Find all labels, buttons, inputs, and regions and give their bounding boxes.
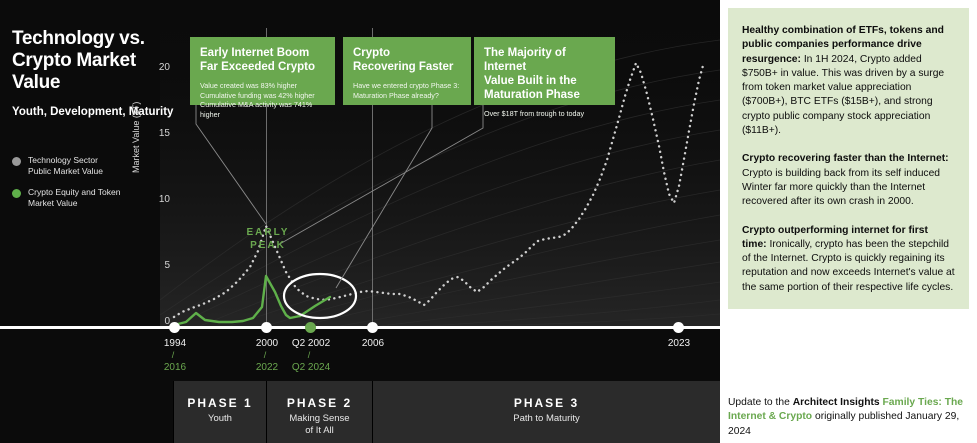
annotation-early-peak: EARLYPEAK (236, 226, 300, 252)
callout-leader-lines (196, 105, 483, 288)
phase-number-1: PHASE 1 (174, 396, 266, 410)
x-tick-2000: 2000 (256, 338, 278, 349)
x-axis-line (0, 326, 720, 329)
phase-number-2: PHASE 2 (267, 396, 372, 410)
chart-panel: Technology vs. Crypto Market Value Youth… (0, 0, 720, 443)
x-axis-dot-2023 (673, 322, 684, 333)
x-tick-crypto-q2-2024: Q2 2024 (292, 362, 330, 373)
x-tick-2006: 2006 (362, 338, 384, 349)
x-tick-q2-2002: Q2 2002 (292, 338, 330, 349)
insight-rest-3: Ironically, crypto has been the stepchil… (742, 239, 955, 293)
phase-number-3: PHASE 3 (373, 396, 720, 410)
x-tick-2023: 2023 (668, 338, 690, 349)
x-tick-slash-1: / (172, 350, 175, 360)
insight-paragraph-1: Healthy combination of ETFs, tokens and … (742, 24, 955, 138)
callout-crypto-recovering-faster: CryptoRecovering Faster Have we entered … (343, 37, 471, 105)
callout-body-3: Over $18T from trough to today (484, 109, 605, 119)
x-axis-dot-q2-2002 (305, 322, 316, 333)
callout-body-2: Have we entered crypto Phase 3:Maturatio… (353, 81, 461, 100)
callout-title-2: CryptoRecovering Faster (353, 46, 461, 74)
callout-majority-internet-value: The Majority of InternetValue Built in t… (474, 37, 615, 105)
x-tick-slash-3: / (308, 350, 311, 360)
phase-desc-2: Making Senseof It All (267, 413, 372, 437)
phase-label-2: PHASE 2 Making Senseof It All (267, 396, 372, 437)
infographic-root: Technology vs. Crypto Market Value Youth… (0, 0, 977, 443)
x-axis-dot-2006 (367, 322, 378, 333)
series-crypto-recent-line (300, 297, 330, 316)
x-tick-crypto-2016: 2016 (164, 362, 186, 373)
x-tick-crypto-2022: 2022 (256, 362, 278, 373)
source-note: Update to the Architect Insights Family … (728, 396, 969, 439)
callout-title-3: The Majority of InternetValue Built in t… (484, 46, 605, 102)
callout-early-internet-boom: Early Internet BoomFar Exceeded Crypto V… (190, 37, 335, 105)
insight-paragraph-2: Crypto recovering faster than the Intern… (742, 152, 955, 209)
phase-label-3: PHASE 3 Path to Maturity (373, 396, 720, 425)
insight-paragraph-3: Crypto outperforming internet for first … (742, 224, 955, 295)
insight-rest-2: Crypto is building back from its self in… (742, 168, 940, 208)
insight-rest-1: In 1H 2024, Crypto added $750B+ in value… (742, 54, 944, 136)
insight-lead-2: Crypto recovering faster than the Intern… (742, 153, 949, 164)
source-note-publication: Architect Insights (793, 397, 883, 408)
x-axis-dot-2000 (261, 322, 272, 333)
callout-body-1: Value created was 83% higherCumulative f… (200, 81, 325, 119)
callout-title-1: Early Internet BoomFar Exceeded Crypto (200, 46, 325, 74)
phase-label-1: PHASE 1 Youth (174, 396, 266, 425)
source-note-pre: Update to the (728, 397, 793, 408)
phase-desc-1: Youth (174, 413, 266, 425)
x-tick-slash-2: / (264, 350, 267, 360)
x-tick-1994: 1994 (164, 338, 186, 349)
phase-desc-3: Path to Maturity (373, 413, 720, 425)
insights-panel: Healthy combination of ETFs, tokens and … (728, 8, 969, 309)
x-axis-dot-1994 (169, 322, 180, 333)
